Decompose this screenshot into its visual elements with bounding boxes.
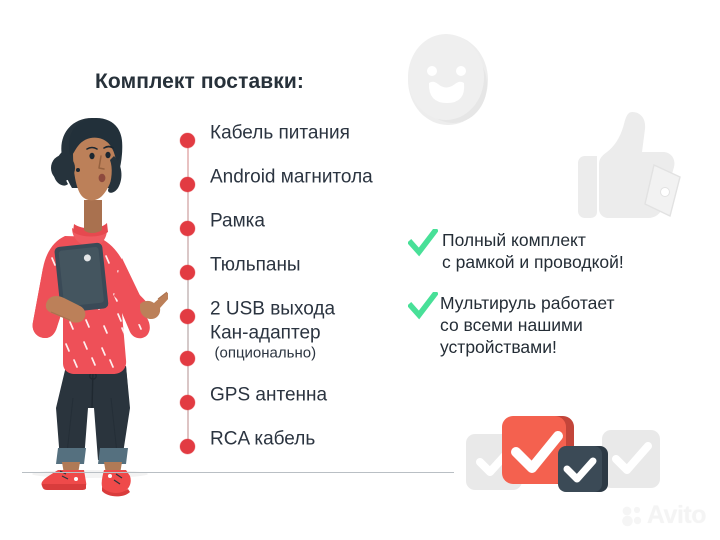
list-item-main-text: Кан-адаптер (210, 323, 321, 344)
checkbox-cards-graphic (462, 408, 662, 500)
check-icon (408, 229, 438, 257)
page-title: Комплект поставки: (95, 70, 304, 94)
bullet-dot-icon (180, 395, 195, 410)
list-item-sub-text: (опционально) (210, 345, 321, 362)
feature-item: Мультируль работает со всеми нашими устр… (408, 291, 708, 358)
bullet-dot-icon (180, 177, 195, 192)
list-item-label: Рамка (210, 211, 265, 232)
feature-text: Полный комплект с рамкой и проводкой! (442, 228, 624, 273)
bullet-dot-icon (180, 309, 195, 324)
avito-watermark-text: Avito (647, 503, 706, 528)
list-item-label: Тюльпаны (210, 255, 301, 276)
list-item-label: Android магнитола (210, 167, 373, 188)
card-dark (558, 446, 608, 492)
ground-line (22, 472, 454, 473)
list-item-label: Кабель питания (210, 123, 350, 144)
feature-item: Полный комплект с рамкой и проводкой! (408, 228, 708, 273)
avito-watermark: Avito (621, 503, 706, 528)
avito-logo-icon (621, 505, 643, 527)
smiley-face-icon (404, 33, 492, 128)
card-gray-right (602, 430, 660, 488)
thumbs-up-icon (575, 108, 683, 220)
list-item-label: RCA кабель (210, 429, 315, 450)
feature-list: Полный комплект с рамкой и проводкой! Му… (408, 228, 708, 376)
list-item-label: 2 USB выхода (210, 299, 335, 320)
bullet-dot-icon (180, 265, 195, 280)
list-item-label: Кан-адаптер (опционально) (210, 323, 321, 362)
list-item-label: GPS антенна (210, 385, 327, 406)
bullet-dot-icon (180, 439, 195, 454)
bullet-dot-icon (180, 221, 195, 236)
promo-image: Комплект поставки: (0, 0, 720, 540)
check-icon (408, 292, 438, 320)
bullet-dot-icon (180, 133, 195, 148)
woman-illustration (18, 108, 168, 498)
feature-text: Мультируль работает со всеми нашими устр… (440, 291, 615, 358)
bullet-dot-icon (180, 351, 195, 366)
